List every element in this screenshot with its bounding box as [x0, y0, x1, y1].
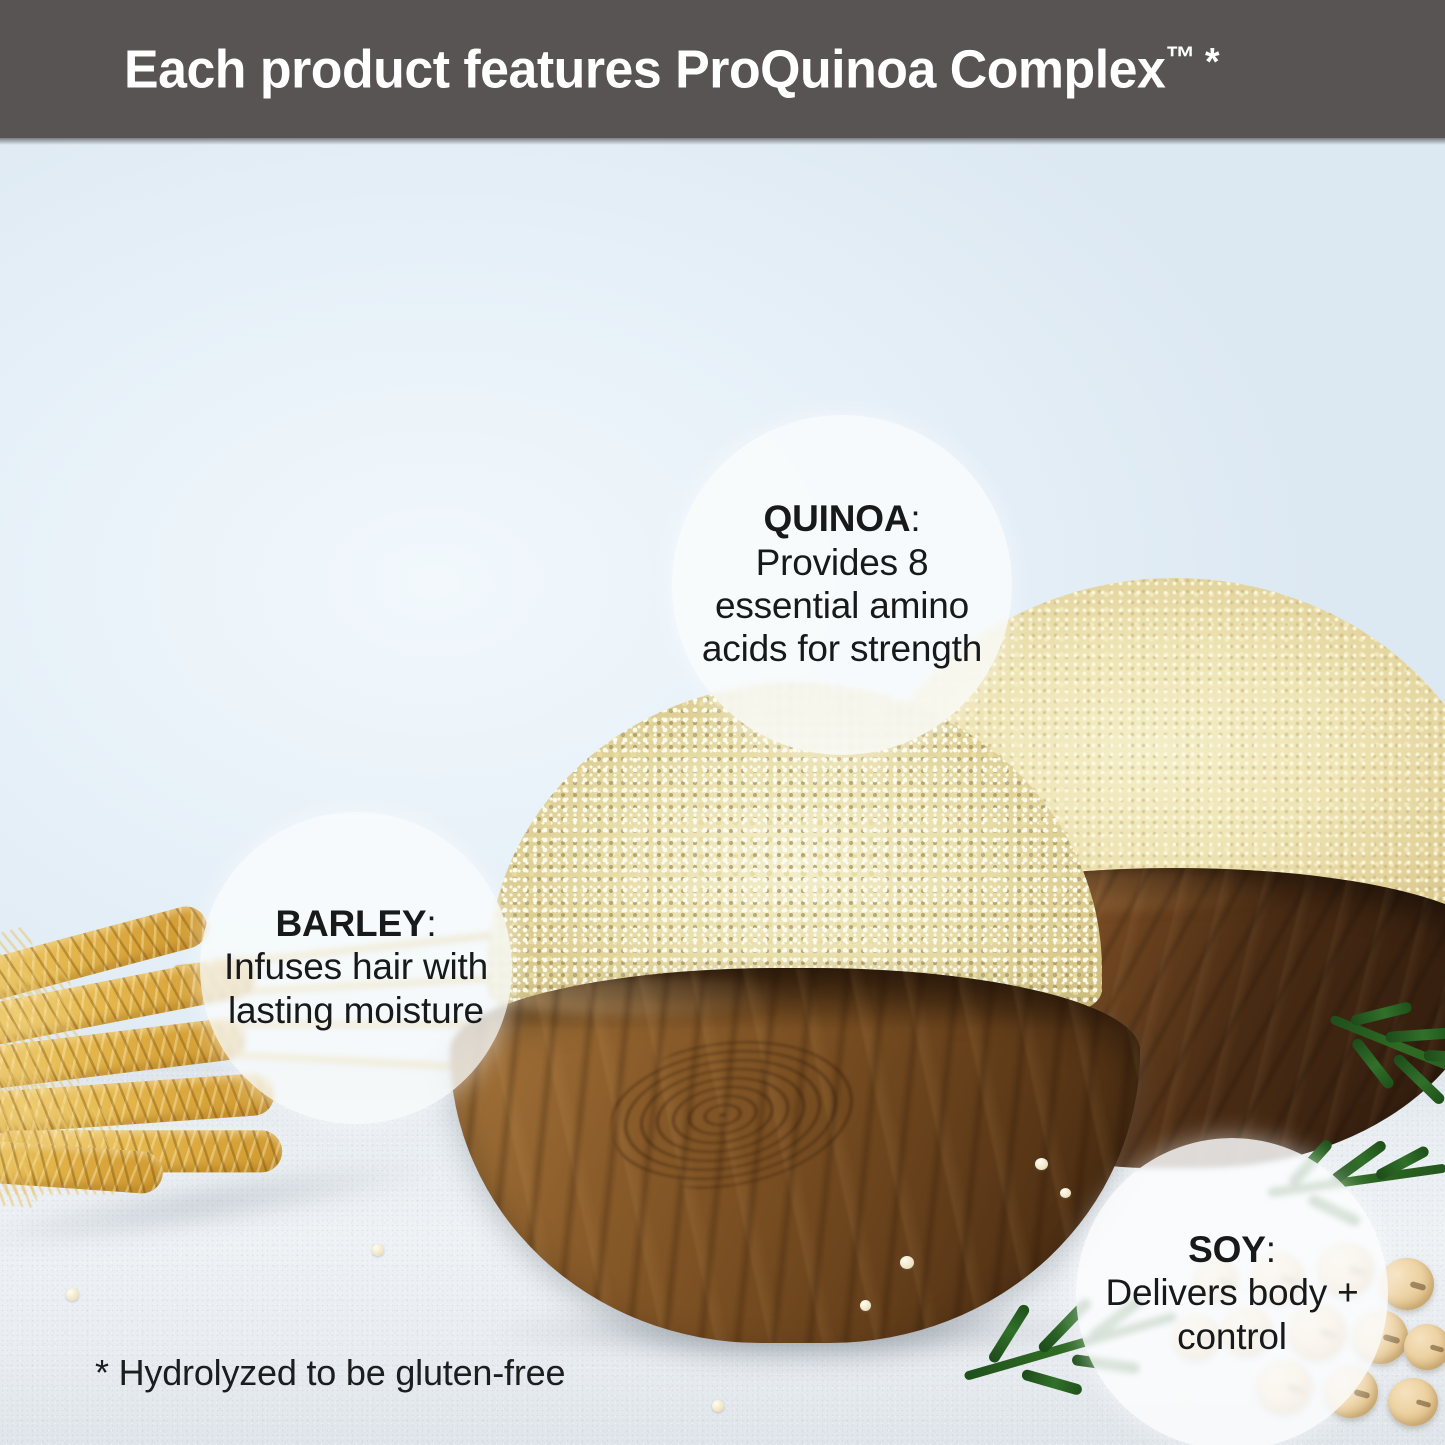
callout-quinoa[interactable]: QUINOA: Provides 8 essential amino acids…	[672, 415, 1012, 755]
soybean-hilum	[1354, 1389, 1371, 1399]
quinoa-seed	[1060, 1188, 1071, 1198]
callout-soy[interactable]: SOY: Delivers body + control	[1076, 1138, 1388, 1445]
quinoa-seed	[712, 1400, 724, 1412]
page-title: Each product features ProQuinoa Complex™…	[124, 42, 1219, 96]
soybean	[1380, 1258, 1434, 1310]
product-infographic: Each product features ProQuinoa Complex™…	[0, 0, 1445, 1445]
trademark-symbol: ™	[1165, 40, 1195, 75]
quinoa-seed	[1035, 1158, 1048, 1170]
soybean-hilum	[1416, 1399, 1432, 1408]
callout-soy-title-text: SOY	[1188, 1229, 1266, 1270]
callout-soy-colon: :	[1266, 1229, 1276, 1270]
callout-barley-colon: :	[426, 903, 436, 944]
soybean	[1404, 1324, 1445, 1370]
bowl-body-front	[450, 968, 1140, 1343]
footnote-text: * Hydrolyzed to be gluten-free	[95, 1352, 565, 1394]
soybean	[1388, 1378, 1438, 1426]
callout-quinoa-title: QUINOA:	[764, 499, 921, 538]
quinoa-seed	[860, 1300, 871, 1311]
callout-barley-body: Infuses hair with lasting moisture	[200, 945, 512, 1032]
callout-soy-body: Delivers body + control	[1076, 1271, 1388, 1358]
callout-barley-title: BARLEY:	[275, 904, 436, 943]
callout-barley[interactable]: BARLEY: Infuses hair with lasting moistu…	[200, 812, 512, 1124]
photo-scene: QUINOA: Provides 8 essential amino acids…	[0, 138, 1445, 1445]
header-banner: Each product features ProQuinoa Complex™…	[0, 0, 1445, 138]
quinoa-seed	[66, 1288, 79, 1301]
header-title-text: Each product features ProQuinoa Complex	[124, 39, 1165, 99]
quinoa-seed	[372, 1244, 384, 1256]
soybean-hilum	[1410, 1281, 1427, 1291]
callout-quinoa-body: Provides 8 essential amino acids for str…	[672, 541, 1012, 671]
callout-soy-title: SOY:	[1188, 1230, 1276, 1269]
callout-quinoa-colon: :	[910, 498, 920, 539]
callout-barley-title-text: BARLEY	[275, 903, 426, 944]
wooden-bowl-front	[450, 683, 1140, 1343]
footnote-marker: *	[1205, 41, 1219, 84]
quinoa-seed	[900, 1256, 914, 1269]
soybean-hilum	[1429, 1344, 1444, 1353]
callout-quinoa-title-text: QUINOA	[764, 498, 911, 539]
rosemary-needle	[1021, 1368, 1084, 1396]
